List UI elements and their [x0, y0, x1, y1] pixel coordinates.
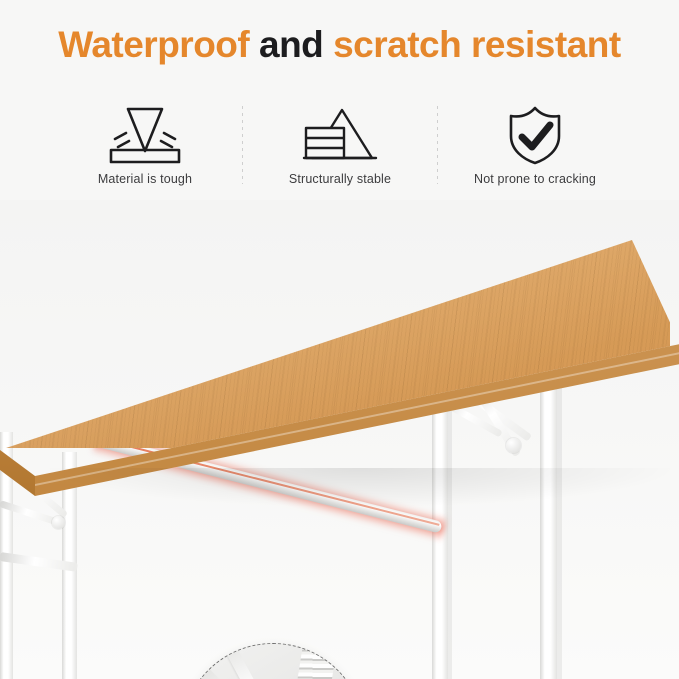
feature-divider-2 [437, 106, 438, 184]
headline-part-2: and [259, 24, 333, 65]
product-photo: Shock-absorbing springs open and close s… [0, 200, 679, 679]
feature-label: Not prone to cracking [474, 172, 596, 186]
spring-mechanism-magnifier [181, 643, 365, 679]
headline-part-1: Waterproof [58, 24, 259, 65]
page-title: Waterproof and scratch resistant [0, 24, 679, 66]
desk-under-shadow [40, 468, 679, 508]
feature-label: Structurally stable [289, 172, 391, 186]
feature-material-is-tough: Material is tough [60, 104, 230, 186]
feature-structurally-stable: Structurally stable [255, 104, 425, 186]
folding-hinge-left [52, 516, 65, 529]
feature-not-prone-to-cracking: Not prone to cracking [450, 104, 620, 186]
feature-label: Material is tough [98, 172, 192, 186]
impact-wedge-icon [99, 104, 191, 166]
feature-row: Material is tough Structurally stable [60, 104, 620, 199]
feature-divider-1 [242, 106, 243, 184]
desk-top-surface [0, 218, 670, 448]
shield-check-icon [489, 104, 581, 166]
desk-top [0, 218, 679, 498]
product-feature-image: Waterproof and scratch resistant Materia… [0, 0, 679, 679]
pyramid-stack-icon [294, 104, 386, 166]
headline-part-3: scratch resistant [333, 24, 621, 65]
